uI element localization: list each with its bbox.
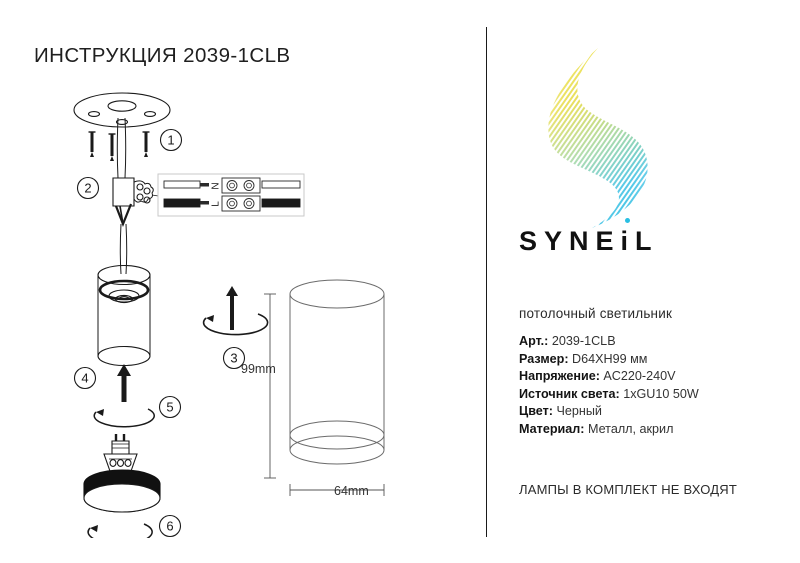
step-4-push-arrow xyxy=(117,364,131,402)
dimension-width-label: 64mm xyxy=(334,484,369,498)
brand-name-part-2: L xyxy=(635,226,659,256)
product-type-label: потолочный светильник xyxy=(519,306,672,321)
step-6-rotate-arrow xyxy=(88,524,152,538)
step-5-rotate-arrow xyxy=(94,409,154,427)
panel-divider xyxy=(486,27,487,537)
spec-key: Материал: xyxy=(519,422,584,436)
svg-text:N: N xyxy=(211,182,222,189)
brand-name-letter-i: i xyxy=(621,226,636,257)
spec-key: Источник света: xyxy=(519,387,620,401)
diffuser-cap-icon xyxy=(84,470,160,512)
spec-value: 2039-1CLB xyxy=(552,334,616,348)
spec-key: Арт.: xyxy=(519,334,548,348)
spec-row-voltage: Напряжение: AC220-240V xyxy=(519,368,779,386)
dimension-height-label: 99mm xyxy=(241,362,276,376)
step-badge-1: 1 xyxy=(161,130,182,151)
spec-key: Размер: xyxy=(519,352,569,366)
spec-row-size: Размер: D64XH99 мм xyxy=(519,351,779,369)
spec-value: 1xGU10 50W xyxy=(623,387,699,401)
instruction-sheet: ИНСТРУКЦИЯ 2039-1CLB xyxy=(0,0,800,563)
spec-value: D64XH99 мм xyxy=(572,352,647,366)
svg-text:1: 1 xyxy=(167,133,174,148)
spec-key: Напряжение: xyxy=(519,369,600,383)
svg-text:2: 2 xyxy=(84,181,91,196)
spec-value: Металл, акрил xyxy=(588,422,673,436)
lamp-body-icon xyxy=(98,266,150,366)
step-badge-5: 5 xyxy=(160,397,181,418)
step-badge-2: 2 xyxy=(78,178,99,199)
spec-row-article: Арт.: 2039-1CLB xyxy=(519,333,779,351)
step-badge-6: 6 xyxy=(160,516,181,537)
gu10-bulb-icon xyxy=(104,434,137,474)
wiring-detail-diagram: N L xyxy=(158,174,304,216)
product-spec-list: Арт.: 2039-1CLB Размер: D64XH99 мм Напря… xyxy=(519,333,779,439)
syneil-logo-mark xyxy=(520,34,720,234)
ceiling-plate-icon xyxy=(74,93,170,127)
spec-value: AC220-240V xyxy=(603,369,675,383)
svg-text:5: 5 xyxy=(166,400,173,415)
terminal-block-icon xyxy=(113,178,153,206)
step-badge-4: 4 xyxy=(75,368,96,389)
brand-wordmark: SYNEiL xyxy=(519,226,659,257)
svg-text:4: 4 xyxy=(81,371,88,386)
spec-key: Цвет: xyxy=(519,404,553,418)
page-title: ИНСТРУКЦИЯ 2039-1CLB xyxy=(34,44,290,68)
svg-text:6: 6 xyxy=(166,519,173,534)
spec-row-light-source: Источник света: 1xGU10 50W xyxy=(519,386,779,404)
spec-row-material: Материал: Металл, акрил xyxy=(519,421,779,439)
height-dimension-line xyxy=(264,294,276,478)
brand-name-part-1: SYNE xyxy=(519,226,621,256)
dimension-drawing xyxy=(232,272,472,512)
screw-icons xyxy=(89,132,150,161)
spec-row-color: Цвет: Черный xyxy=(519,403,779,421)
svg-text:L: L xyxy=(211,201,222,207)
bulbs-not-included-note: ЛАМПЫ В КОМПЛЕКТ НЕ ВХОДЯТ xyxy=(519,482,737,497)
spec-value: Черный xyxy=(556,404,601,418)
product-cylinder-outline xyxy=(290,280,384,464)
